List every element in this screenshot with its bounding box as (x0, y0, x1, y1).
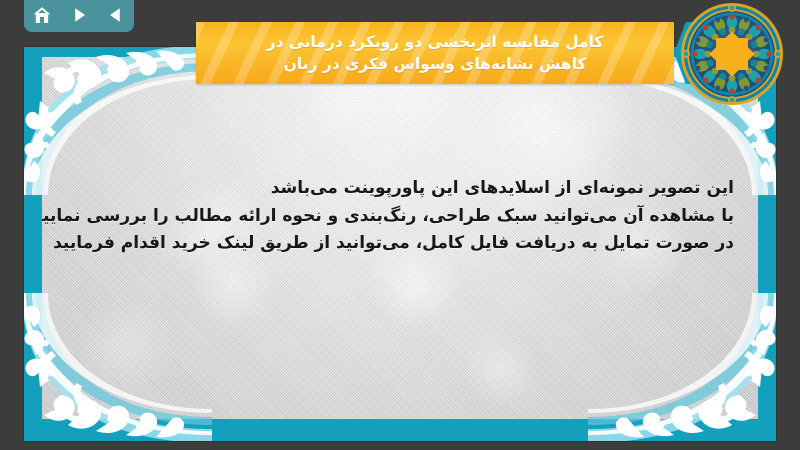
home-icon (32, 5, 52, 25)
powerpoint-slide: این تصویر نمونه‌ای از اسلایدهای این پاور… (24, 47, 776, 441)
banner-arrow-tail (674, 22, 716, 84)
triangle-left-icon (107, 6, 125, 24)
previous-slide-button[interactable] (103, 3, 129, 27)
triangle-right-icon (70, 6, 88, 24)
body-line-2: با مشاهده آن می‌توانید سبک طراحی، رنگ‌بن… (42, 203, 734, 231)
next-slide-button[interactable] (66, 3, 92, 27)
home-button[interactable] (29, 3, 55, 27)
slide-navigation-bar (24, 0, 134, 32)
title-line-1: کامل مقایسه اثربخشی دو رویکرد درمانی در (267, 31, 604, 53)
screenshot-stage: این تصویر نمونه‌ای از اسلایدهای این پاور… (0, 0, 800, 450)
slide-title-banner: کامل مقایسه اثربخشی دو رویکرد درمانی در … (196, 22, 716, 84)
body-line-3: در صورت تمایل به دریافت فایل کامل، می‌تو… (42, 230, 734, 258)
banner-body: کامل مقایسه اثربخشی دو رویکرد درمانی در … (196, 22, 674, 84)
slide-body-text: این تصویر نمونه‌ای از اسلایدهای این پاور… (42, 175, 734, 258)
body-line-1: این تصویر نمونه‌ای از اسلایدهای این پاور… (42, 175, 734, 203)
title-line-2: کاهش نشانه‌های وسواس فکری در زنان (284, 53, 587, 75)
slide-content-panel: این تصویر نمونه‌ای از اسلایدهای این پاور… (42, 57, 758, 419)
